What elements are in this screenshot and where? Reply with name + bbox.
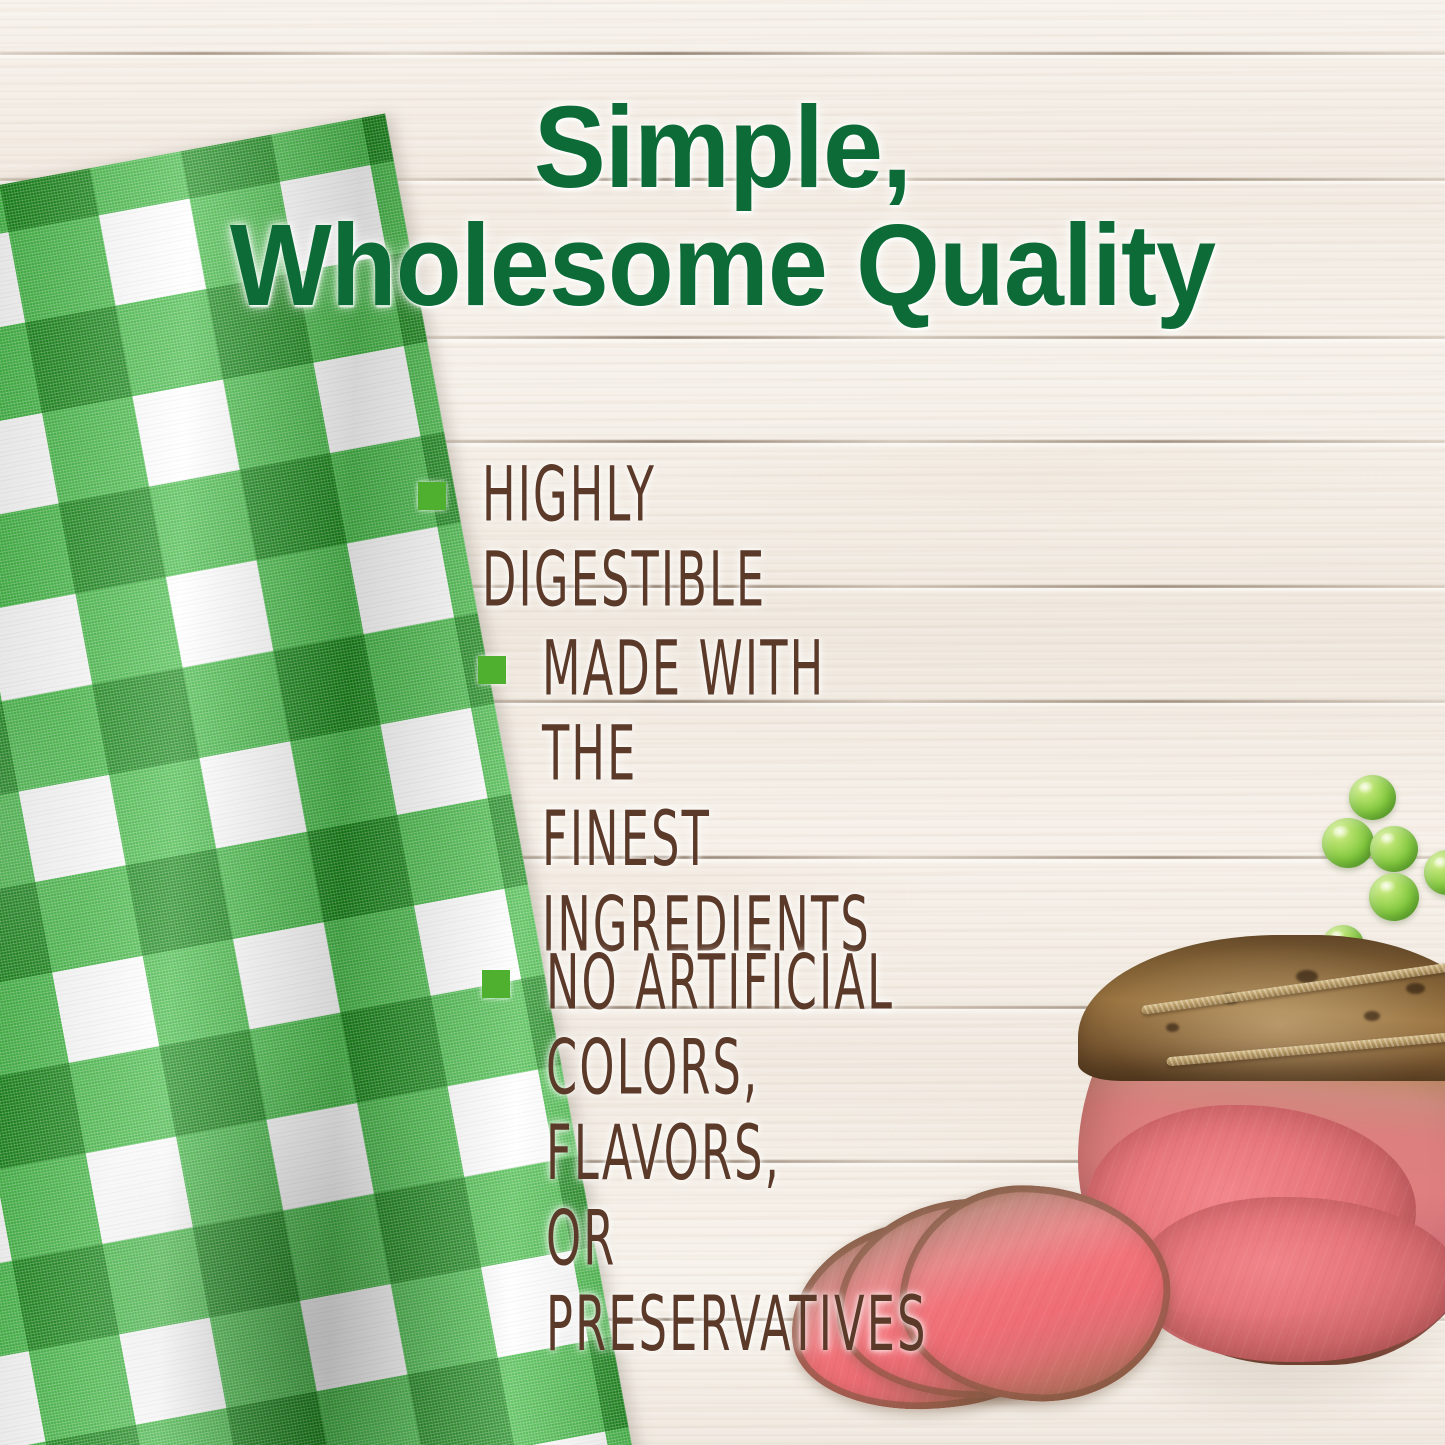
feature-bullet-item: MADE WITH THE FINEST INGREDIENTS (390, 626, 1090, 906)
feature-bullet-list: HIGHLY DIGESTIBLE MADE WITH THE FINEST I… (390, 452, 1090, 1325)
green-square-bullet-icon (478, 656, 506, 684)
pea (1322, 818, 1374, 868)
feature-bullet-label: HIGHLY DIGESTIBLE (482, 452, 920, 623)
green-square-bullet-icon (482, 970, 510, 998)
roast-interior (1138, 1197, 1445, 1362)
roast-seared-crust (1078, 935, 1445, 1081)
feature-bullet-label: MADE WITH THE FINEST INGREDIENTS (542, 626, 937, 968)
meat-fiber-texture (1138, 1197, 1445, 1362)
headline: Simple, Wholesome Quality (51, 88, 1395, 325)
pea (1349, 775, 1396, 820)
banner-canvas: Simple, Wholesome Quality HIGHLY DIGESTI… (0, 0, 1445, 1445)
feature-bullet-item: NO ARTIFICIAL COLORS, FLAVORS, OR PRESER… (390, 940, 1090, 1290)
pea (1370, 826, 1418, 872)
green-square-bullet-icon (418, 482, 446, 510)
feature-bullet-item: HIGHLY DIGESTIBLE (390, 452, 1090, 592)
feature-bullet-label: NO ARTIFICIAL COLORS, FLAVORS, OR PRESER… (546, 940, 938, 1367)
pea (1369, 873, 1419, 921)
